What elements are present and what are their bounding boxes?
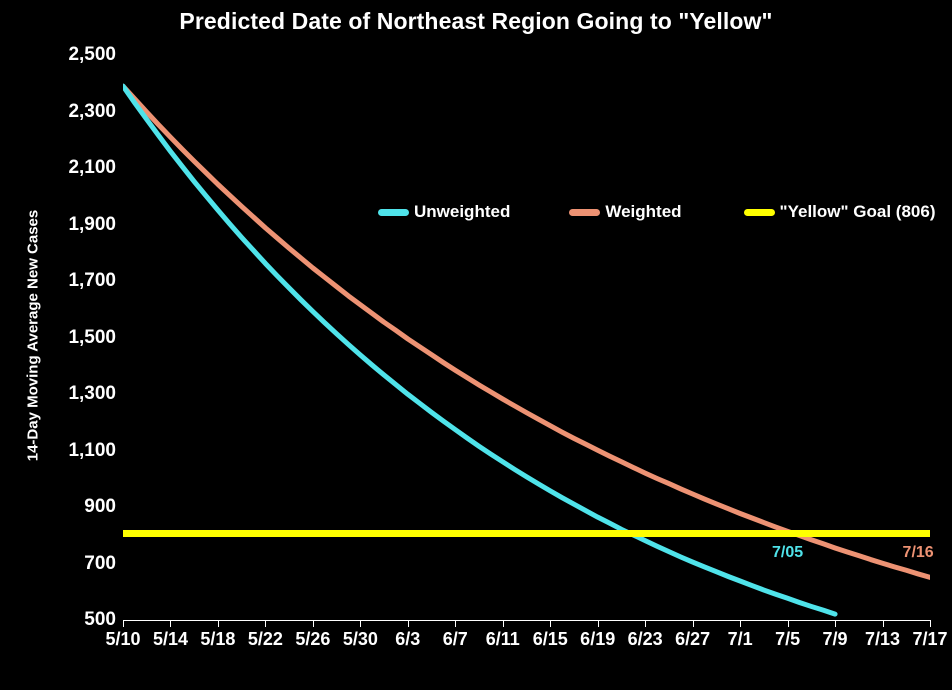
y-tick-label: 2,100 [44,157,116,179]
x-axis-line [123,620,930,621]
x-tick-label: 7/17 [912,629,947,650]
y-axis-tick-labels: 5007009001,1001,3001,5001,7001,9002,1002… [40,0,116,690]
x-tick-label: 5/18 [200,629,235,650]
x-tick-mark [645,620,646,627]
x-tick-mark [788,620,789,627]
x-tick-mark [598,620,599,627]
x-tick-label: 5/14 [153,629,188,650]
x-tick-mark [170,620,171,627]
x-tick-mark [360,620,361,627]
y-tick-label: 1,700 [44,270,116,292]
annotation-weighted-crossing: 7/16 [903,544,934,562]
line-weighted [123,86,930,577]
x-tick-mark [693,620,694,627]
legend-item-weighted[interactable]: Weighted [569,202,681,222]
y-tick-label: 700 [44,553,116,575]
legend-label-unweighted: Unweighted [414,202,510,222]
x-tick-label: 6/19 [580,629,615,650]
x-tick-mark [123,620,124,627]
legend-swatch-unweighted [378,209,409,216]
legend-swatch-goal [744,209,775,216]
y-tick-label: 500 [44,609,116,631]
y-tick-label: 2,500 [44,44,116,66]
series-svg [123,55,930,620]
x-tick-label: 5/30 [343,629,378,650]
x-tick-label: 7/9 [823,629,848,650]
y-tick-label: 1,100 [44,440,116,462]
x-tick-mark [883,620,884,627]
x-tick-mark [503,620,504,627]
y-tick-label: 900 [44,496,116,518]
x-tick-label: 6/15 [533,629,568,650]
x-tick-mark [550,620,551,627]
legend-item-goal[interactable]: "Yellow" Goal (806) [744,202,936,222]
x-tick-label: 6/27 [675,629,710,650]
y-tick-label: 2,300 [44,101,116,123]
x-tick-mark [313,620,314,627]
plot-area [123,55,930,620]
legend-swatch-weighted [569,209,600,216]
annotation-unweighted-crossing: 7/05 [772,544,803,562]
y-tick-label: 1,900 [44,214,116,236]
x-tick-mark [740,620,741,627]
x-tick-label: 5/26 [295,629,330,650]
y-tick-label: 1,300 [44,383,116,405]
y-axis-title: 14-Day Moving Average New Cases [25,146,42,526]
chart-container: Predicted Date of Northeast Region Going… [0,0,952,690]
x-tick-mark [408,620,409,627]
legend-item-unweighted[interactable]: Unweighted [378,202,510,222]
chart-legend: Unweighted Weighted "Yellow" Goal (806) [378,200,935,224]
x-tick-label: 7/13 [865,629,900,650]
x-tick-mark [218,620,219,627]
x-tick-mark [455,620,456,627]
x-tick-mark [265,620,266,627]
x-tick-label: 6/11 [486,629,520,650]
x-tick-label: 6/23 [628,629,663,650]
x-tick-label: 6/7 [443,629,468,650]
x-tick-mark [835,620,836,627]
chart-title: Predicted Date of Northeast Region Going… [0,8,952,35]
x-tick-label: 6/3 [395,629,420,650]
x-tick-label: 7/1 [728,629,753,650]
x-tick-label: 7/5 [775,629,800,650]
y-tick-label: 1,500 [44,327,116,349]
legend-label-goal: "Yellow" Goal (806) [780,202,936,222]
legend-label-weighted: Weighted [605,202,681,222]
x-tick-label: 5/22 [248,629,283,650]
x-tick-mark [930,620,931,627]
x-tick-label: 5/10 [105,629,140,650]
